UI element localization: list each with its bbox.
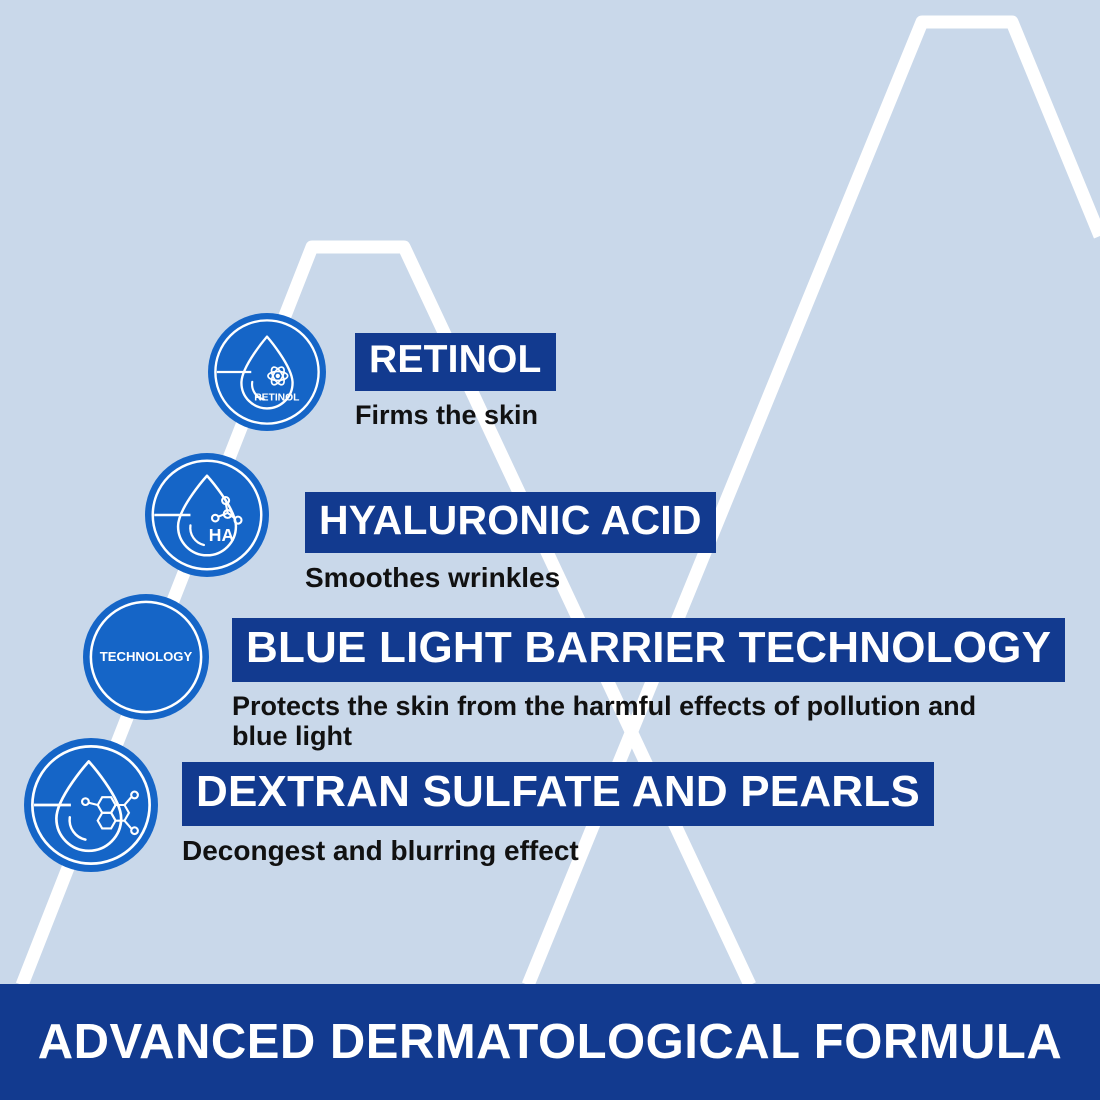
- retinol-droplet-icon: RETINOL: [208, 313, 326, 431]
- feature-title-dextran-sulfate: DEXTRAN SULFATE AND PEARLS: [182, 762, 934, 826]
- technology-text-column: BLUE LIGHT BARRIER TECHNOLOGY Protects t…: [232, 618, 1065, 751]
- retinol-text-column: RETINOL Firms the skin: [355, 333, 556, 430]
- dextran-sulfate-droplet-icon: [24, 738, 158, 872]
- bottom-banner-text: ADVANCED DERMATOLOGICAL FORMULA: [38, 1014, 1063, 1070]
- hyaluronic-acid-droplet-icon: HA: [145, 453, 269, 577]
- hyaluronic-acid-text-column: HYALURONIC ACID Smoothes wrinkles: [305, 492, 716, 593]
- feature-subtitle-hyaluronic-acid: Smoothes wrinkles: [305, 562, 716, 593]
- ha-icon-label: HA: [209, 525, 235, 545]
- retinol-icon-label: RETINOL: [254, 393, 299, 404]
- bottom-banner: ADVANCED DERMATOLOGICAL FORMULA: [0, 984, 1100, 1100]
- feature-title-hyaluronic-acid: HYALURONIC ACID: [305, 492, 716, 553]
- dextran-sulfate-text-column: DEXTRAN SULFATE AND PEARLS Decongest and…: [182, 762, 934, 866]
- feature-title-retinol: RETINOL: [355, 333, 556, 391]
- technology-icon-label: TECHNOLOGY: [100, 649, 193, 664]
- feature-title-technology: BLUE LIGHT BARRIER TECHNOLOGY: [232, 618, 1065, 682]
- product-benefits-poster: RETINOL RETINOL Firms the skin: [0, 0, 1100, 1100]
- feature-subtitle-dextran-sulfate: Decongest and blurring effect: [182, 835, 934, 866]
- technology-circle-icon: TECHNOLOGY: [83, 594, 209, 720]
- feature-subtitle-retinol: Firms the skin: [355, 400, 556, 430]
- feature-subtitle-technology: Protects the skin from the harmful effec…: [232, 691, 992, 751]
